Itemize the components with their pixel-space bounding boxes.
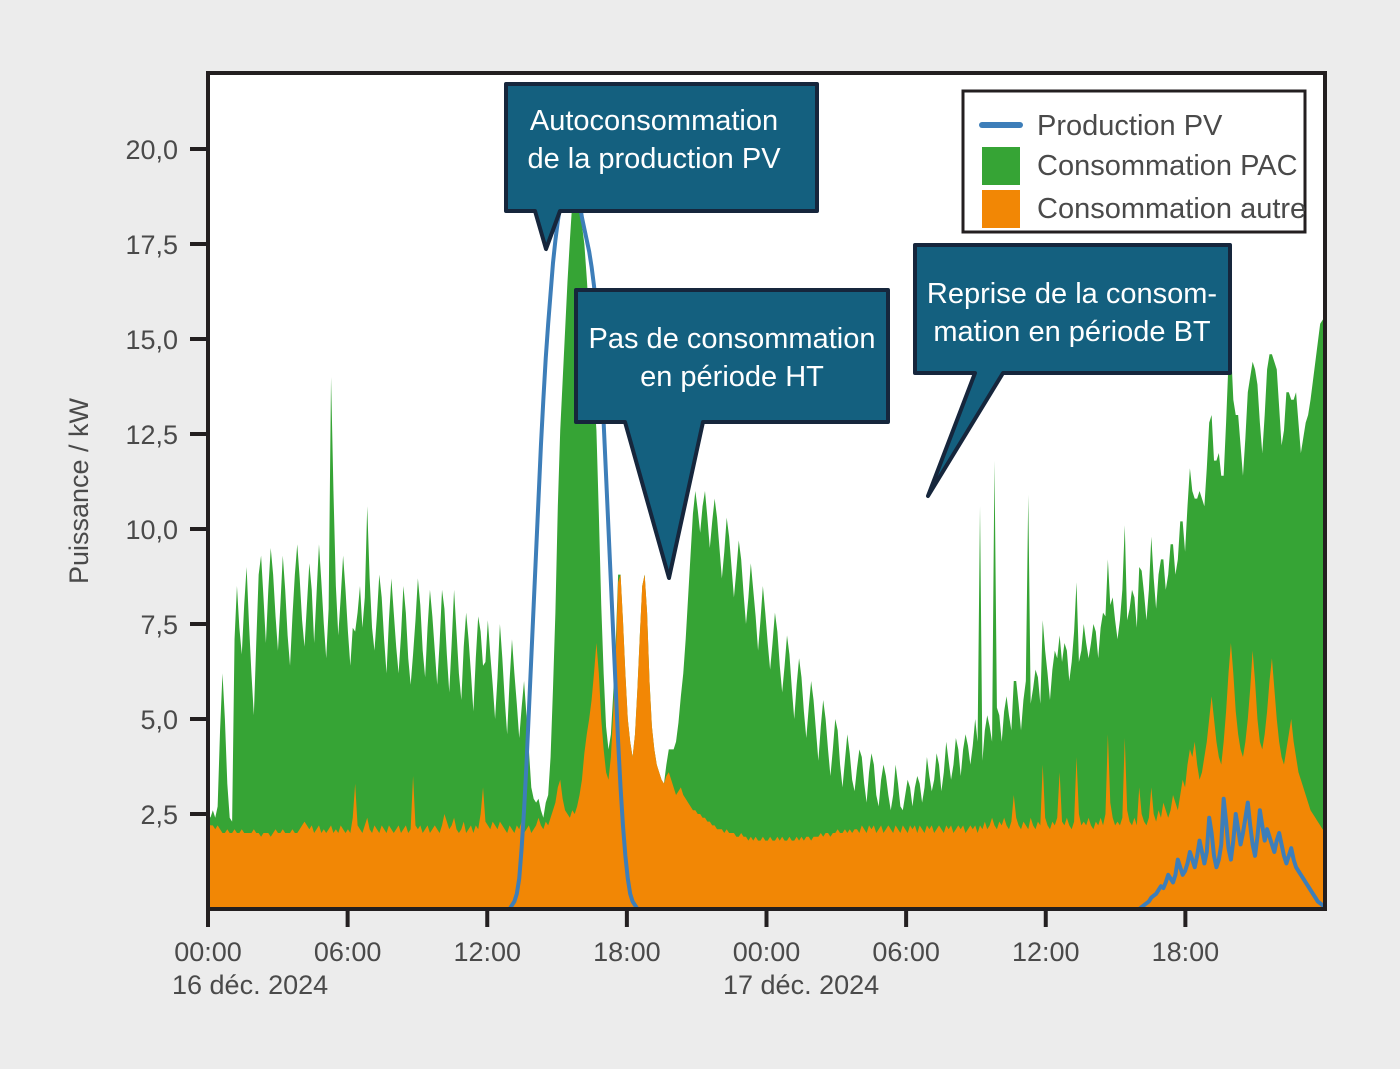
legend-marker-production-pv — [979, 122, 1023, 128]
x-axis-tick-label: 18:00 — [1152, 937, 1220, 967]
y-axis-tick-label: 17,5 — [125, 230, 178, 260]
x-axis-date-day1: 16 déc. 2024 — [172, 970, 328, 1000]
callout-pas-de-consommation-line2: en période HT — [640, 361, 824, 393]
x-axis-tick-label: 00:00 — [174, 937, 242, 967]
y-axis-tick-label: 2,5 — [140, 800, 178, 830]
y-axis-tick-label: 15,0 — [125, 325, 178, 355]
y-axis-title: Puissance / kW — [64, 397, 94, 584]
y-axis-tick-label: 20,0 — [125, 135, 178, 165]
callout-pas-de-consommation-line1: Pas de consommation — [589, 323, 876, 355]
x-axis-tick-label: 18:00 — [593, 937, 661, 967]
legend-marker-consommation-autre — [982, 190, 1020, 228]
legend-label-consommation-pac: Consommation PAC — [1037, 150, 1298, 182]
callout-autoconsommation-line1: Autoconsommation — [530, 105, 778, 137]
y-axis-tick-label: 12,5 — [125, 420, 178, 450]
legend-marker-consommation-pac — [982, 147, 1020, 185]
legend-label-consommation-autre: Consommation autre — [1037, 193, 1306, 225]
x-axis-tick-label: 12:00 — [1012, 937, 1080, 967]
x-axis-date-day2: 17 déc. 2024 — [723, 970, 879, 1000]
legend-label-production-pv: Production PV — [1037, 110, 1223, 142]
chart-svg: 2,55,07,510,012,515,017,520,0 00:0006:00… — [0, 0, 1400, 1069]
x-axis-tick-label: 06:00 — [314, 937, 382, 967]
y-axis-tick-label: 7,5 — [140, 610, 178, 640]
x-axis-tick-label: 12:00 — [453, 937, 521, 967]
y-axis-tick-label: 10,0 — [125, 515, 178, 545]
callout-reprise-consommation-line1: Reprise de la consom- — [927, 278, 1217, 310]
legend: Production PV Consommation PAC Consommat… — [963, 91, 1306, 232]
x-axis-tick-label: 00:00 — [733, 937, 801, 967]
x-axis-tick-label: 06:00 — [872, 937, 940, 967]
callout-reprise-consommation-line2: mation en période BT — [933, 316, 1211, 348]
chart-figure: 2,55,07,510,012,515,017,520,0 00:0006:00… — [0, 0, 1400, 1069]
y-axis-tick-label: 5,0 — [140, 705, 178, 735]
callout-autoconsommation-line2: de la production PV — [527, 143, 781, 175]
